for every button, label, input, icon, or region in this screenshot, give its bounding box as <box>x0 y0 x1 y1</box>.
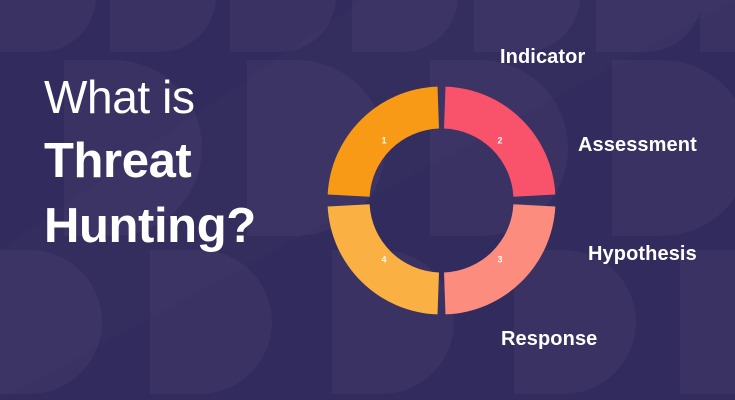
headline-line-2: Threat <box>44 136 344 187</box>
threat-hunting-donut-chart: 1234 <box>320 79 563 322</box>
stage-label-response: Response <box>501 328 597 351</box>
donut-segment-number-1: 1 <box>381 135 386 145</box>
donut-segment-number-4: 4 <box>381 254 386 264</box>
donut-segment-number-3: 3 <box>497 254 502 264</box>
stage-label-indicator: Indicator <box>500 46 585 69</box>
headline-line-3: Hunting? <box>44 201 344 252</box>
stage-label-hypothesis: Hypothesis <box>588 243 697 266</box>
headline-line-1: What is <box>44 74 344 122</box>
donut-svg: 1234 <box>320 79 563 322</box>
donut-segment-group <box>328 87 556 315</box>
donut-segment-number-2: 2 <box>497 135 502 145</box>
page-title: What is Threat Hunting? <box>44 74 344 252</box>
infographic-canvas: What is Threat Hunting? 1234 Indicator A… <box>0 0 735 400</box>
donut-number-group: 1234 <box>381 135 502 264</box>
stage-label-assessment: Assessment <box>578 134 697 157</box>
